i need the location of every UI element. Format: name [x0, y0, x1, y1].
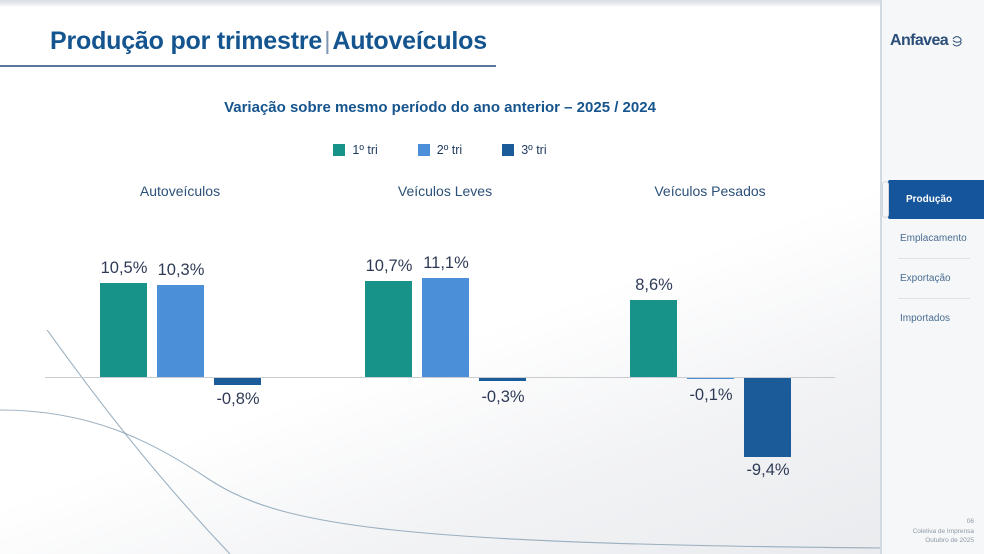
- legend-swatch-icon: [502, 144, 514, 156]
- legend-label: 1º tri: [352, 143, 377, 157]
- legend-item[interactable]: 1º tri: [333, 143, 377, 157]
- slide-footer: 06 Coletiva de Imprensa Outubro de 2025: [913, 517, 974, 546]
- bar-value-g0-s2: -0,8%: [199, 390, 277, 409]
- chart-legend: 1º tri 2º tri 3º tri: [0, 143, 880, 157]
- category-label-0: Autoveículos: [100, 183, 260, 199]
- page-title-main: Produção por trimestre: [50, 27, 322, 55]
- footer-date: Outubro de 2025: [913, 536, 974, 546]
- bar-chart: Autoveículos Veículos Leves Veículos Pes…: [0, 170, 880, 500]
- bar-g0-s1[interactable]: [157, 285, 204, 377]
- bar-g1-s0[interactable]: [365, 281, 412, 377]
- category-label-2: Veículos Pesados: [630, 183, 790, 199]
- sidebar-item-importados[interactable]: Importados: [882, 299, 984, 338]
- page-title: Produção por trimestre|Autoveículos: [50, 27, 487, 56]
- bar-value-g2-s1: -0,1%: [672, 386, 750, 405]
- anfavea-mark-icon: [951, 35, 964, 48]
- sidebar-item-label: Emplacamento: [900, 233, 967, 244]
- sidebar-item-exportacao[interactable]: Exportação: [882, 259, 984, 298]
- legend-label: 3º tri: [521, 143, 546, 157]
- page-number: 06: [913, 517, 974, 527]
- sidebar-item-label: Importados: [900, 313, 950, 324]
- bar-g2-s1[interactable]: [687, 378, 734, 379]
- legend-label: 2º tri: [437, 143, 462, 157]
- legend-swatch-icon: [418, 144, 430, 156]
- top-band: [0, 0, 984, 6]
- page-title-separator: |: [322, 27, 332, 55]
- bar-g1-s1[interactable]: [422, 278, 469, 377]
- bar-g0-s0[interactable]: [100, 283, 147, 377]
- sidebar-item-producao[interactable]: Produção: [888, 180, 984, 219]
- brand-logo: Anfavea: [890, 32, 980, 50]
- footer-event: Coletiva de Imprensa: [913, 527, 974, 537]
- legend-item[interactable]: 2º tri: [418, 143, 462, 157]
- bar-g2-s0[interactable]: [630, 300, 677, 377]
- bar-value-g1-s1: 11,1%: [407, 254, 485, 273]
- sidebar-item-emplacamento[interactable]: Emplacamento: [882, 219, 984, 258]
- page-title-sub: Autoveículos: [332, 27, 487, 55]
- chart-subtitle: Variação sobre mesmo período do ano ante…: [0, 99, 880, 116]
- legend-item[interactable]: 3º tri: [502, 143, 546, 157]
- bar-value-g1-s2: -0,3%: [464, 388, 542, 407]
- category-label-1: Veículos Leves: [365, 183, 525, 199]
- bar-value-g2-s2: -9,4%: [729, 461, 807, 480]
- sidebar-nav: Produção Emplacamento Exportação Importa…: [882, 180, 984, 338]
- bar-value-g0-s1: 10,3%: [142, 261, 220, 280]
- bar-g1-s2[interactable]: [479, 378, 526, 381]
- slide-root: Produção por trimestre|Autoveículos Vari…: [0, 0, 984, 554]
- sidebar-item-label: Produção: [906, 194, 952, 205]
- bar-g2-s2[interactable]: [744, 378, 791, 457]
- legend-swatch-icon: [333, 144, 345, 156]
- brand-name: Anfavea: [890, 32, 948, 50]
- right-sidebar: Anfavea Produção Emplacamento Exportação…: [880, 0, 984, 554]
- bar-g0-s2[interactable]: [214, 378, 261, 385]
- sidebar-item-label: Exportação: [900, 273, 951, 284]
- title-underline: [0, 65, 496, 67]
- bar-value-g2-s0: 8,6%: [615, 276, 693, 295]
